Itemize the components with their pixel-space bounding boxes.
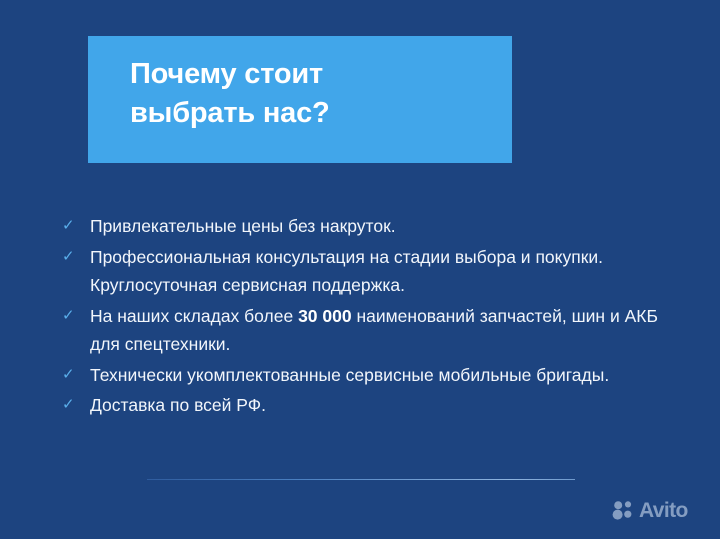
list-item-text-before: На наших складах более bbox=[90, 306, 298, 326]
avito-logo-icon bbox=[612, 500, 636, 520]
list-item-text-before: Технически укомплектованные сервисные мо… bbox=[90, 365, 609, 385]
list-item-text: Технически укомплектованные сервисные мо… bbox=[90, 361, 672, 390]
list-item: ✓ Профессиональная консультация на стади… bbox=[62, 243, 672, 300]
list-item: ✓ Доставка по всей РФ. bbox=[62, 391, 672, 420]
list-item: ✓ На наших складах более 30 000 наименов… bbox=[62, 302, 672, 359]
list-item: ✓ Привлекательные цены без накруток. bbox=[62, 212, 672, 241]
slide-canvas: Почему стоит выбрать нас? ✓ Привлекатель… bbox=[0, 0, 720, 539]
check-icon: ✓ bbox=[62, 243, 82, 272]
list-item-text-before: Доставка по всей РФ. bbox=[90, 395, 266, 415]
list-item: ✓ Технически укомплектованные сервисные … bbox=[62, 361, 672, 390]
page-title: Почему стоит выбрать нас? bbox=[130, 55, 490, 133]
check-icon: ✓ bbox=[62, 361, 82, 390]
check-icon: ✓ bbox=[62, 302, 82, 331]
list-item-highlight: 30 000 bbox=[298, 306, 352, 326]
list-item-text: Привлекательные цены без накруток. bbox=[90, 212, 672, 241]
check-icon: ✓ bbox=[62, 391, 82, 420]
title-banner: Почему стоит выбрать нас? bbox=[88, 36, 512, 163]
list-item-text: Профессиональная консультация на стадии … bbox=[90, 243, 672, 300]
list-item-text: На наших складах более 30 000 наименован… bbox=[90, 302, 672, 359]
list-item-text: Доставка по всей РФ. bbox=[90, 391, 672, 420]
list-item-text-before: Привлекательные цены без накруток. bbox=[90, 216, 396, 236]
benefits-list: ✓ Привлекательные цены без накруток. ✓ П… bbox=[62, 212, 672, 422]
check-icon: ✓ bbox=[62, 212, 82, 241]
list-item-text-before: Профессиональная консультация на стадии … bbox=[90, 247, 603, 296]
avito-watermark: Avito bbox=[612, 497, 688, 523]
divider bbox=[147, 479, 575, 480]
avito-wordmark: Avito bbox=[639, 500, 688, 521]
